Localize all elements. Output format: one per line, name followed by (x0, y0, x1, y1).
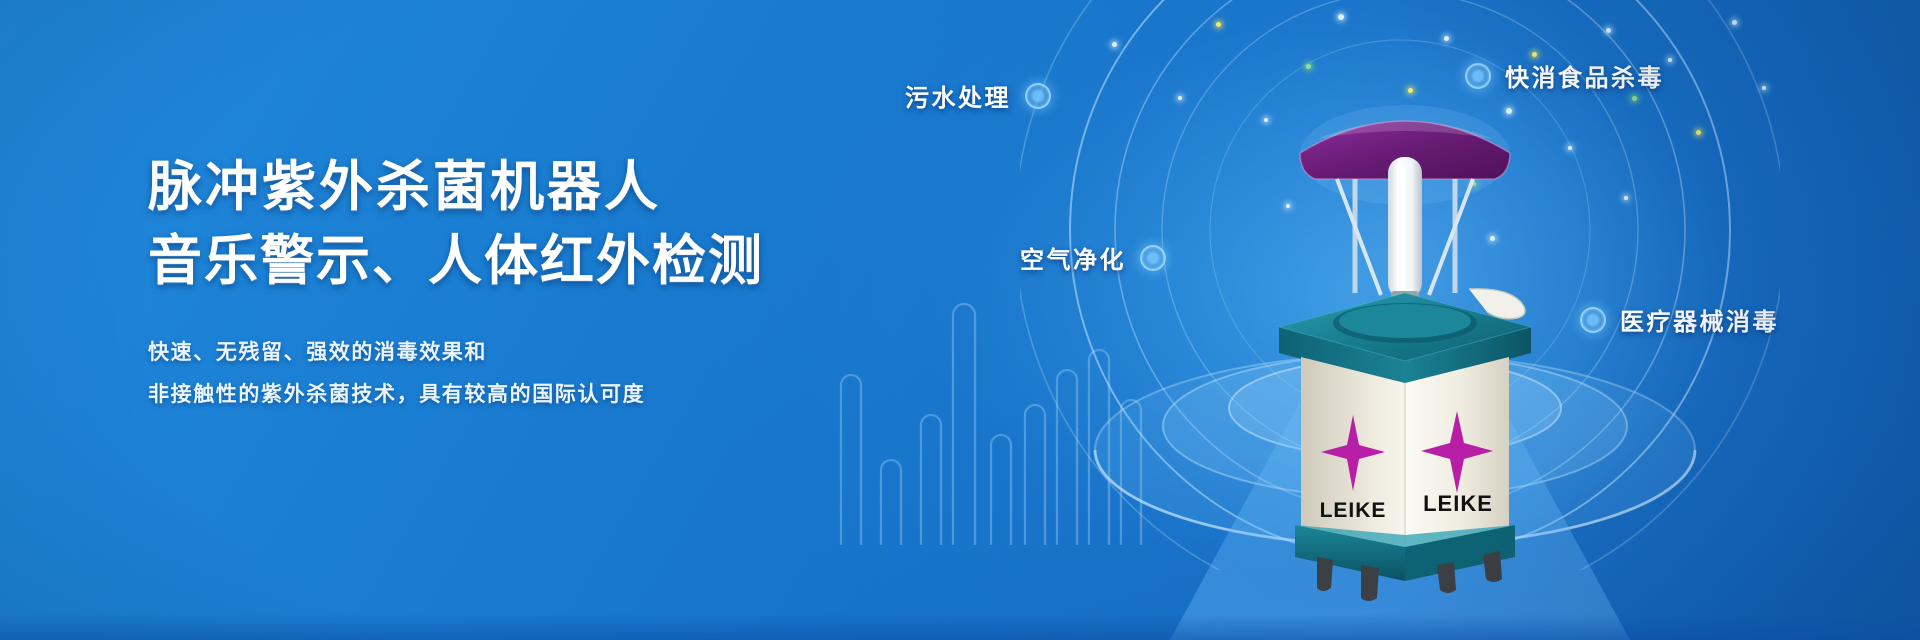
uv-disinfection-robot-illustration: LEIKE LEIKE (1255, 95, 1555, 605)
subtitle-line-2: 非接触性的紫外杀菌技术，具有较高的国际认可度 (148, 374, 908, 416)
callout-food-label: 快消食品杀毒 (1505, 58, 1664, 93)
headline-block: 脉冲紫外杀菌机器人 音乐警示、人体红外检测 快速、无残留、强效的消毒效果和 非接… (148, 150, 908, 416)
brand-wordmark-right: LEIKE (1423, 491, 1493, 516)
subtitle-line-1: 快速、无残留、强效的消毒效果和 (148, 332, 908, 374)
node-dot-icon (1025, 83, 1051, 109)
headline-line-2: 音乐警示、人体红外检测 (148, 224, 908, 298)
node-dot-icon (1465, 63, 1491, 89)
callout-air[interactable]: 空气净化 (1020, 240, 1166, 275)
node-dot-icon (1140, 245, 1166, 271)
promo-banner: LEIKE LEIKE 污水处理 快消食品杀毒 空气净化 医疗器械消毒 脉冲紫外… (0, 0, 1920, 640)
callout-medical-label: 医疗器械消毒 (1620, 302, 1779, 337)
bottom-gradient-band (0, 614, 1920, 640)
headline-line-1: 脉冲紫外杀菌机器人 (148, 150, 908, 224)
brand-wordmark-left: LEIKE (1320, 499, 1387, 522)
callout-air-label: 空气净化 (1020, 240, 1126, 275)
callout-food[interactable]: 快消食品杀毒 (1465, 58, 1664, 93)
callout-wastewater-label: 污水处理 (905, 78, 1011, 113)
callout-wastewater[interactable]: 污水处理 (905, 78, 1051, 113)
callout-medical[interactable]: 医疗器械消毒 (1580, 302, 1779, 337)
node-dot-icon (1580, 307, 1606, 333)
